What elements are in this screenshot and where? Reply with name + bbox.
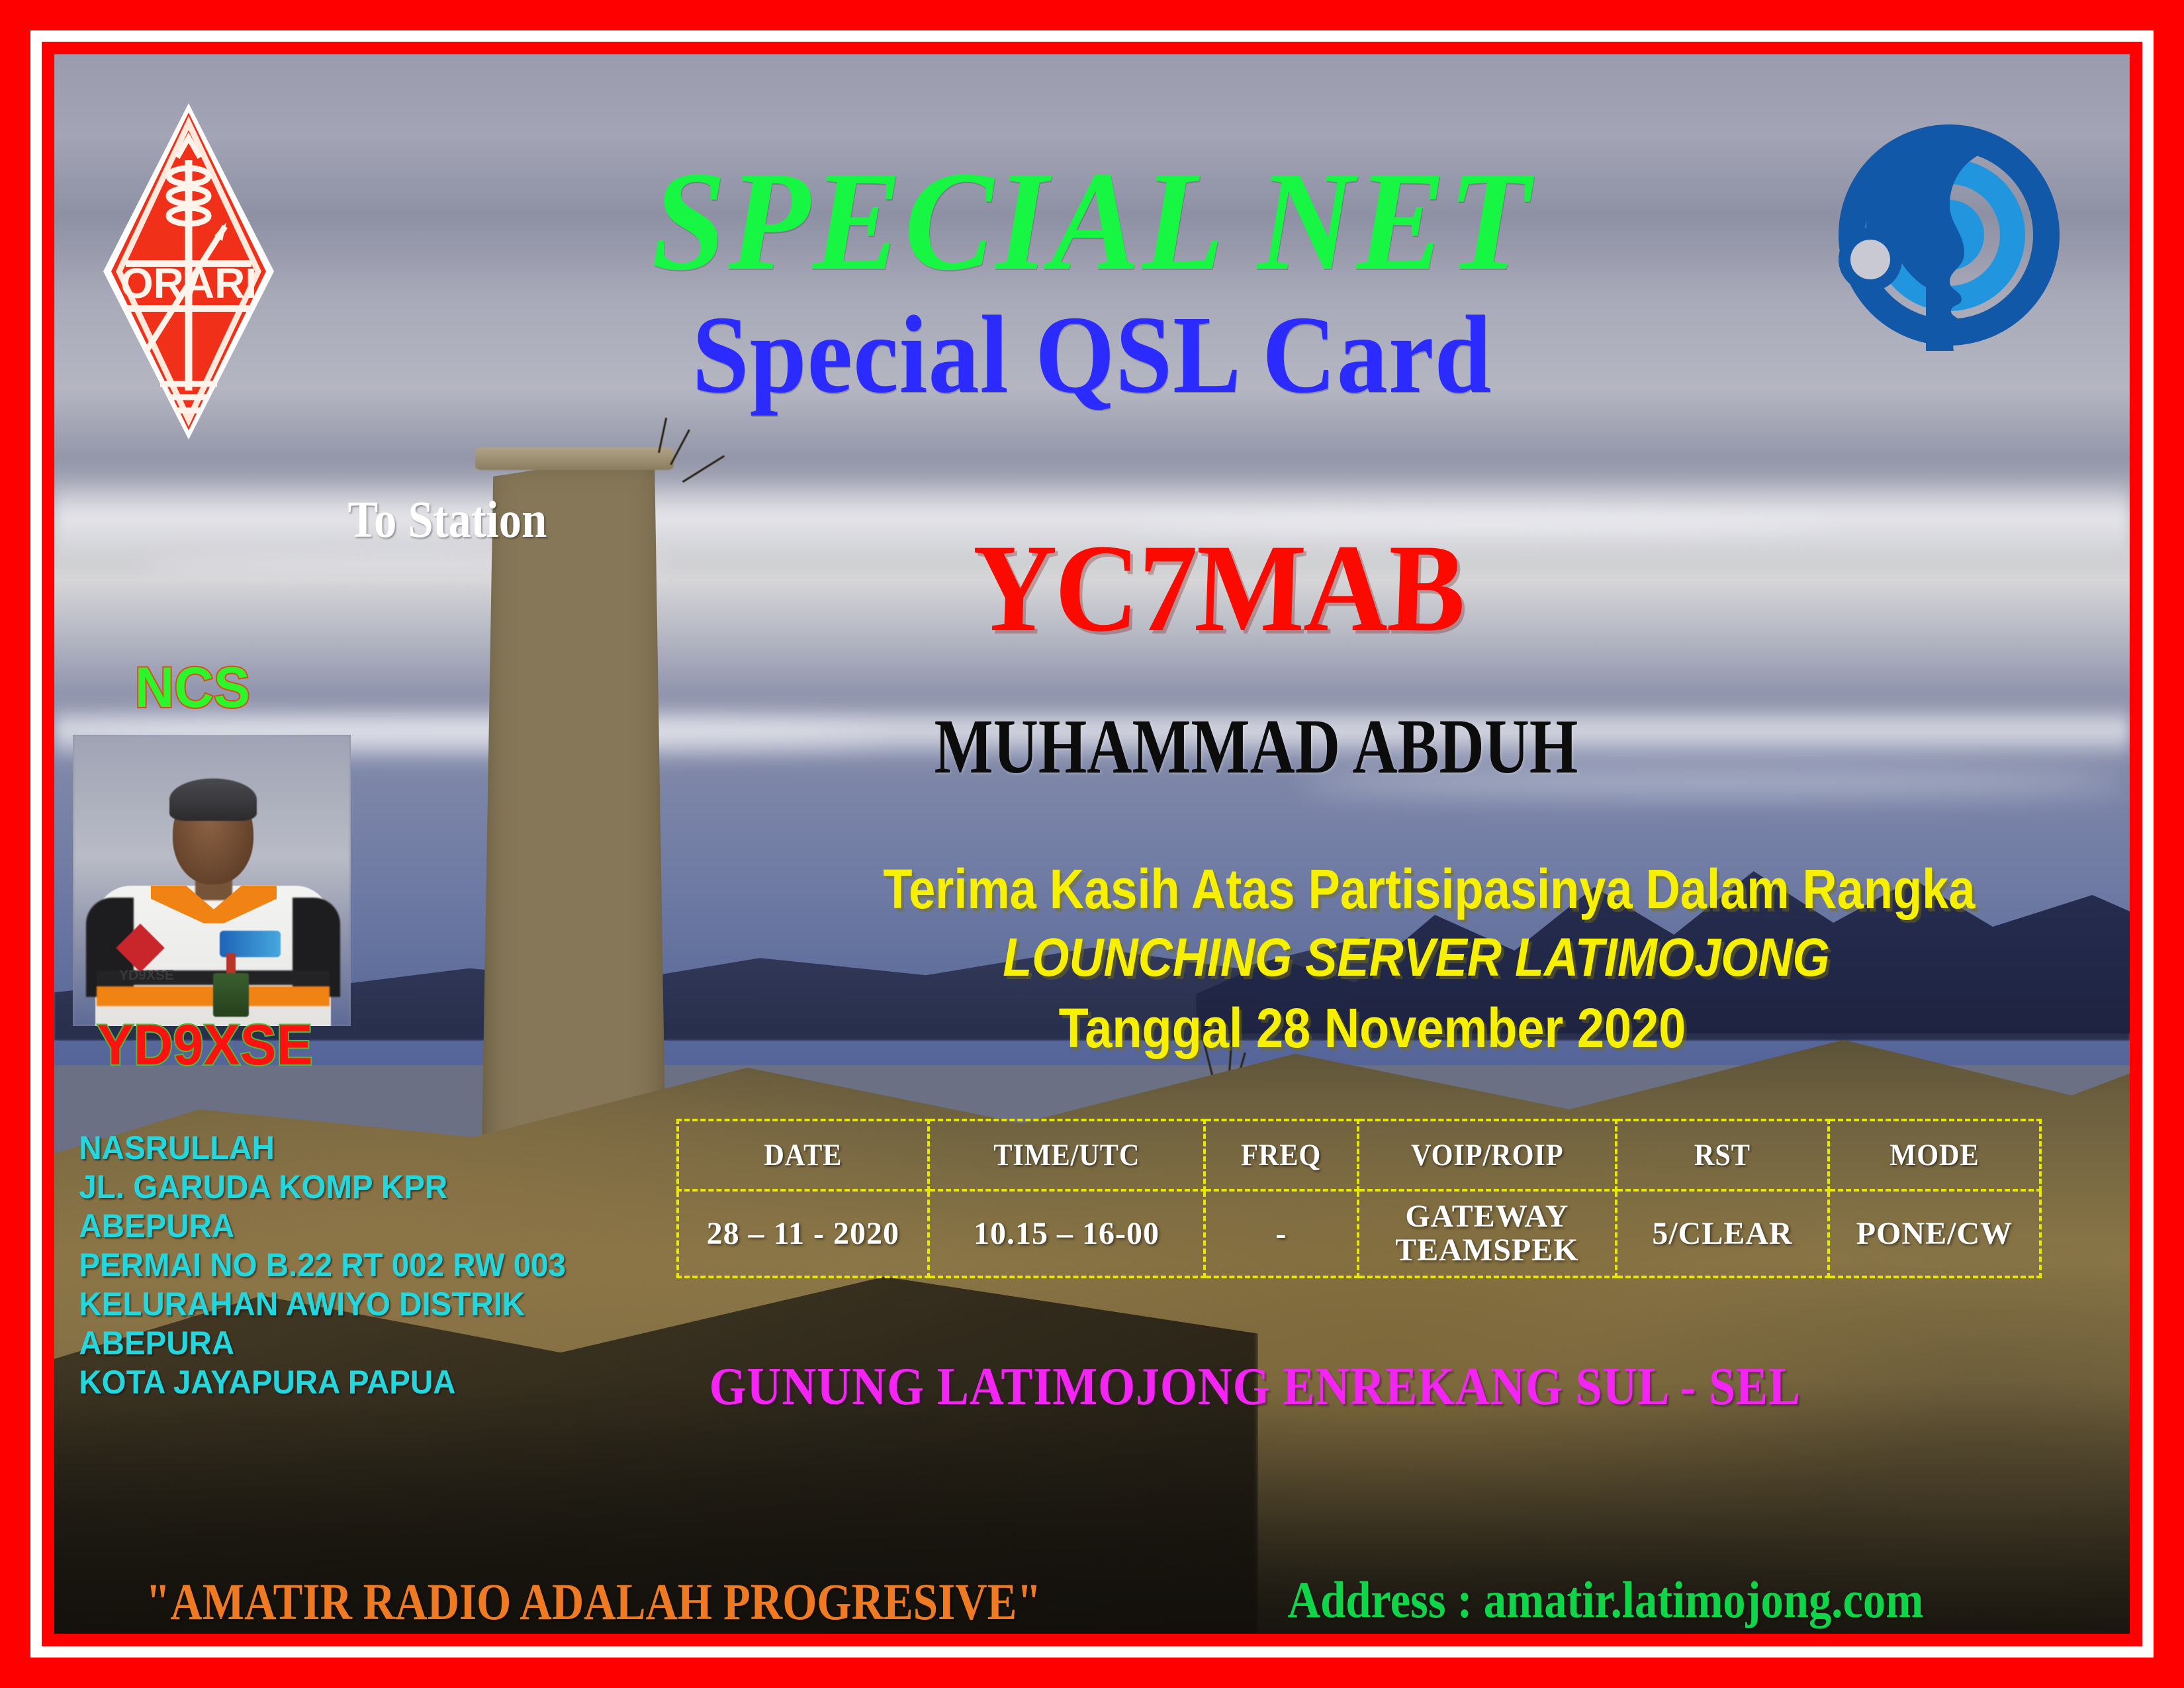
event-location-line: GUNUNG LATIMOJONG ENREKANG SUL - SEL: [709, 1357, 1801, 1417]
address-line: ABEPURA: [79, 1324, 566, 1363]
stone-pillar-cap: [475, 447, 674, 470]
footer-slogan: "AMATIR RADIO ADALAH PROGRESIVE": [146, 1572, 1041, 1632]
address-line: PERMAI NO B.22 RT 002 RW 003: [79, 1246, 566, 1285]
cell-mode: PONE/CW: [1829, 1190, 2040, 1277]
cell-voip-roip: GATEWAY TEAMSPEK: [1358, 1190, 1617, 1277]
page-subtitle-qsl-card: Special QSL Card: [87, 291, 2097, 419]
cell-voip-roip-line2: TEAMSPEK: [1360, 1234, 1615, 1268]
cell-freq: -: [1205, 1190, 1357, 1277]
table-header-row: DATE TIME/UTC FREQ VOIP/ROIP RST MODE: [678, 1120, 2040, 1190]
ncs-role-label: NCS: [135, 655, 250, 721]
footer-web-address: Address : amatir.latimojong.com: [1288, 1570, 1924, 1630]
address-line: ABEPURA: [79, 1207, 566, 1246]
cell-date: 28 – 11 - 2020: [678, 1190, 929, 1277]
address-line: JL. GARUDA KOMP KPR: [79, 1168, 566, 1207]
cell-time-utc: 10.15 – 16-00: [929, 1190, 1205, 1277]
recipient-callsign: YC7MAB: [969, 516, 1467, 661]
thanks-line-1: Terima Kasih Atas Partisipasinya Dalam R…: [883, 857, 1975, 921]
portrait-hair: [169, 778, 257, 821]
portrait-id-badge: [213, 973, 249, 1017]
to-station-label: To Station: [348, 490, 547, 549]
ncs-operator-photo: YD9XSE: [73, 735, 351, 1026]
address-line: NASRULLAH: [79, 1129, 566, 1168]
cell-voip-roip-line1: GATEWAY: [1360, 1200, 1615, 1234]
address-line: KOTA JAYAPURA PAPUA: [79, 1363, 566, 1402]
column-header-mode: MODE: [1839, 1120, 2030, 1190]
page-title-special-net: SPECIAL NET: [66, 139, 2118, 303]
portrait-lanyard: [226, 953, 236, 976]
column-header-voip-roip: VOIP/ROIP: [1371, 1120, 1603, 1190]
thanks-line-2: LOUNCHING SERVER LATIMOJONG: [1003, 927, 1829, 989]
thanks-line-3-date: Tanggal 28 November 2020: [1059, 996, 1686, 1060]
column-header-date: DATE: [690, 1120, 916, 1190]
column-header-freq: FREQ: [1212, 1120, 1350, 1190]
qso-details-table: DATE TIME/UTC FREQ VOIP/ROIP RST MODE 28…: [676, 1119, 2042, 1278]
portrait-callsign-tag: YD9XSE: [119, 968, 174, 984]
operator-name: MUHAMMAD ABDUH: [934, 702, 1578, 792]
table-row: 28 – 11 - 2020 10.15 – 16-00 - GATEWAY T…: [678, 1190, 2040, 1277]
cell-rst: 5/CLEAR: [1616, 1190, 1829, 1277]
qsl-card: ORARI SPECIAL NET Special QSL Card To St…: [0, 0, 2184, 1688]
postal-address-block: NASRULLAH JL. GARUDA KOMP KPR ABEPURA PE…: [79, 1129, 566, 1402]
ncs-callsign: YD9XSE: [97, 1013, 313, 1078]
column-header-rst: RST: [1627, 1120, 1818, 1190]
address-line: KELURAHAN AWIYO DISTRIK: [79, 1285, 566, 1324]
column-header-time-utc: TIME/UTC: [942, 1120, 1191, 1190]
